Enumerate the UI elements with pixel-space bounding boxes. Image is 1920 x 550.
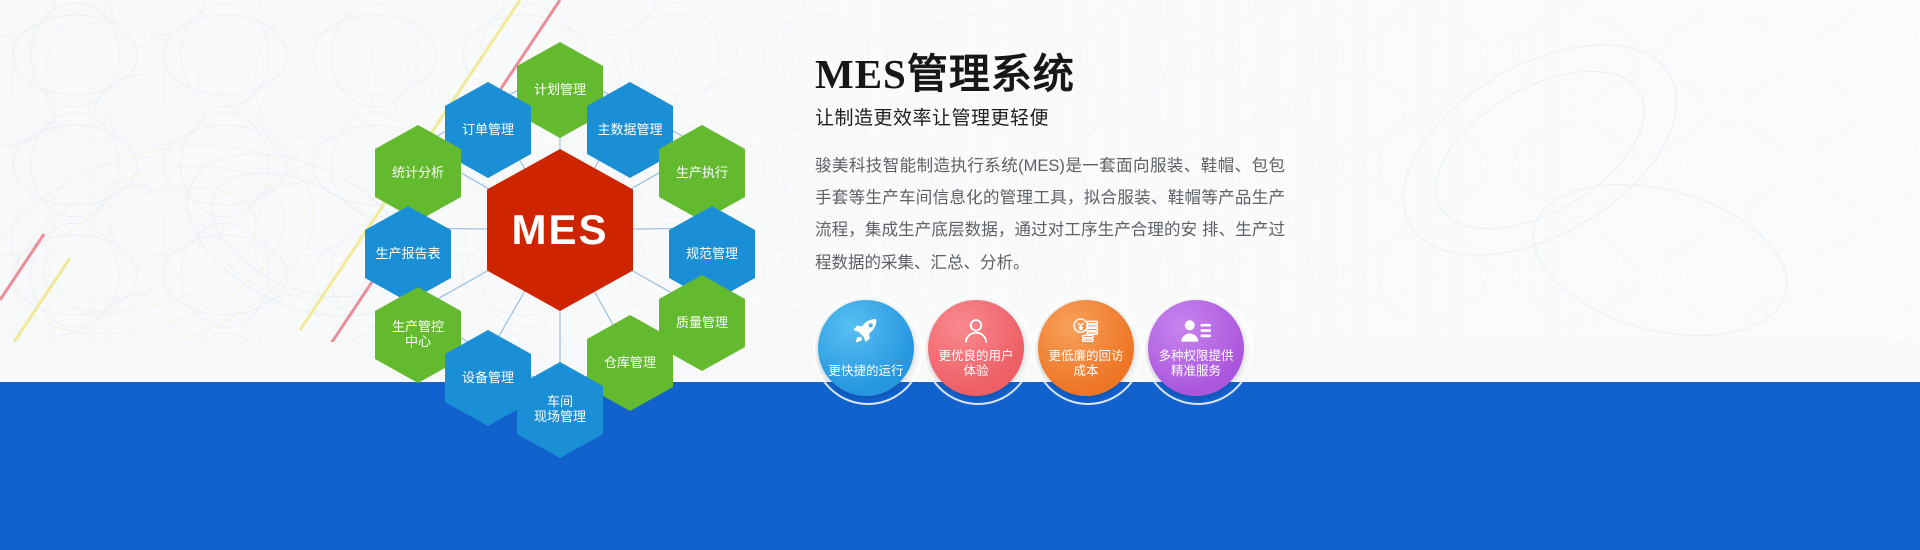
hex-label: 规范管理 (686, 247, 738, 262)
permission-icon (1148, 314, 1244, 348)
hex-label: 订单管理 (462, 123, 514, 138)
feature-badge-list: 更快捷的运行 更优良的用户体验 (818, 300, 1244, 396)
page-subtitle: 让制造更效率让管理更轻便 (815, 103, 1285, 130)
page-title: MES管理系统 (815, 52, 1285, 97)
hex-label: 生产执行 (676, 166, 728, 181)
badge-label: 更优良的用户体验 (928, 349, 1024, 396)
description-text: 骏美科技智能制造执行系统(MES)是一套面向服装、鞋帽、包包手套等生产车间信息化… (815, 150, 1285, 279)
hex-label: 设备管理 (462, 371, 514, 386)
badge-label: 多种权限提供精准服务 (1148, 349, 1244, 396)
badge-better-experience[interactable]: 更优良的用户体验 (928, 300, 1024, 396)
badge-faster-operation[interactable]: 更快捷的运行 (818, 300, 914, 396)
hex-label: 生产管控中心 (392, 320, 444, 350)
badge-label: 更低廉的回访成本 (1038, 349, 1134, 396)
content-column: MES管理系统 让制造更效率让管理更轻便 骏美科技智能制造执行系统(MES)是一… (815, 52, 1285, 279)
hex-label: 质量管理 (676, 316, 728, 331)
badge-label: 更快捷的运行 (822, 364, 909, 396)
hex-label: 计划管理 (534, 83, 586, 98)
hex-label: 车间现场管理 (534, 395, 586, 425)
badge-lower-cost[interactable]: 更低廉的回访成本 (1038, 300, 1134, 396)
user-icon (928, 314, 1024, 348)
mes-banner: 计划管理 订单管理 主数据管理 统计分析 生产执行 生产报告表 规范管理 生产管… (0, 0, 1920, 550)
coins-icon (1038, 314, 1134, 348)
hex-center-label: MES (511, 206, 608, 254)
rocket-icon (818, 314, 914, 348)
mes-hexagon-diagram: 计划管理 订单管理 主数据管理 统计分析 生产执行 生产报告表 规范管理 生产管… (330, 10, 790, 440)
hex-label: 主数据管理 (597, 123, 662, 138)
hex-label: 统计分析 (392, 166, 444, 181)
hex-label: 仓库管理 (604, 356, 656, 371)
hex-label: 生产报告表 (375, 247, 440, 262)
badge-permissions[interactable]: 多种权限提供精准服务 (1148, 300, 1244, 396)
